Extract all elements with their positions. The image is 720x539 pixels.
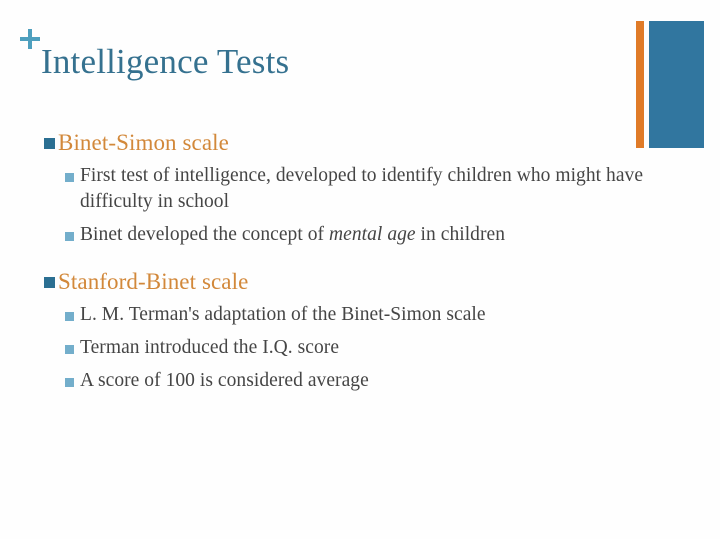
page-title: Intelligence Tests — [41, 41, 289, 83]
bullet-level2-list: L. M. Terman's adaptation of the Binet-S… — [44, 302, 644, 394]
decorative-bar-blue — [649, 21, 704, 148]
list-item: First test of intelligence, developed to… — [65, 163, 644, 215]
plus-icon — [20, 29, 40, 49]
list-item-label: Binet developed the concept of mental ag… — [80, 222, 505, 248]
list-item: L. M. Terman's adaptation of the Binet-S… — [65, 302, 644, 328]
square-bullet-icon — [65, 232, 74, 241]
square-bullet-icon — [65, 312, 74, 321]
square-bullet-icon — [65, 378, 74, 387]
list-item: Binet developed the concept of mental ag… — [65, 222, 644, 248]
square-bullet-icon — [44, 277, 55, 288]
bullet-level1-label: Binet-Simon scale — [58, 128, 229, 158]
bullet-level1: Stanford-Binet scale — [44, 267, 644, 297]
bullet-group: Binet-Simon scale First test of intellig… — [44, 128, 644, 248]
slide-content: Binet-Simon scale First test of intellig… — [44, 128, 644, 394]
bullet-level1: Binet-Simon scale — [44, 128, 644, 158]
list-item: A score of 100 is considered average — [65, 368, 644, 394]
list-item: Terman introduced the I.Q. score — [65, 335, 644, 361]
slide: Intelligence Tests Binet-Simon scale Fir… — [0, 0, 720, 539]
bullet-group: Stanford-Binet scale L. M. Terman's adap… — [44, 267, 644, 394]
list-item-label: A score of 100 is considered average — [80, 368, 369, 394]
square-bullet-icon — [44, 138, 55, 149]
bullet-level2-list: First test of intelligence, developed to… — [44, 163, 644, 248]
list-item-label: First test of intelligence, developed to… — [80, 163, 644, 215]
square-bullet-icon — [65, 173, 74, 182]
list-item-label: L. M. Terman's adaptation of the Binet-S… — [80, 302, 486, 328]
square-bullet-icon — [65, 345, 74, 354]
list-item-label: Terman introduced the I.Q. score — [80, 335, 339, 361]
bullet-level1-label: Stanford-Binet scale — [58, 267, 248, 297]
plus-icon-vertical — [28, 29, 32, 49]
